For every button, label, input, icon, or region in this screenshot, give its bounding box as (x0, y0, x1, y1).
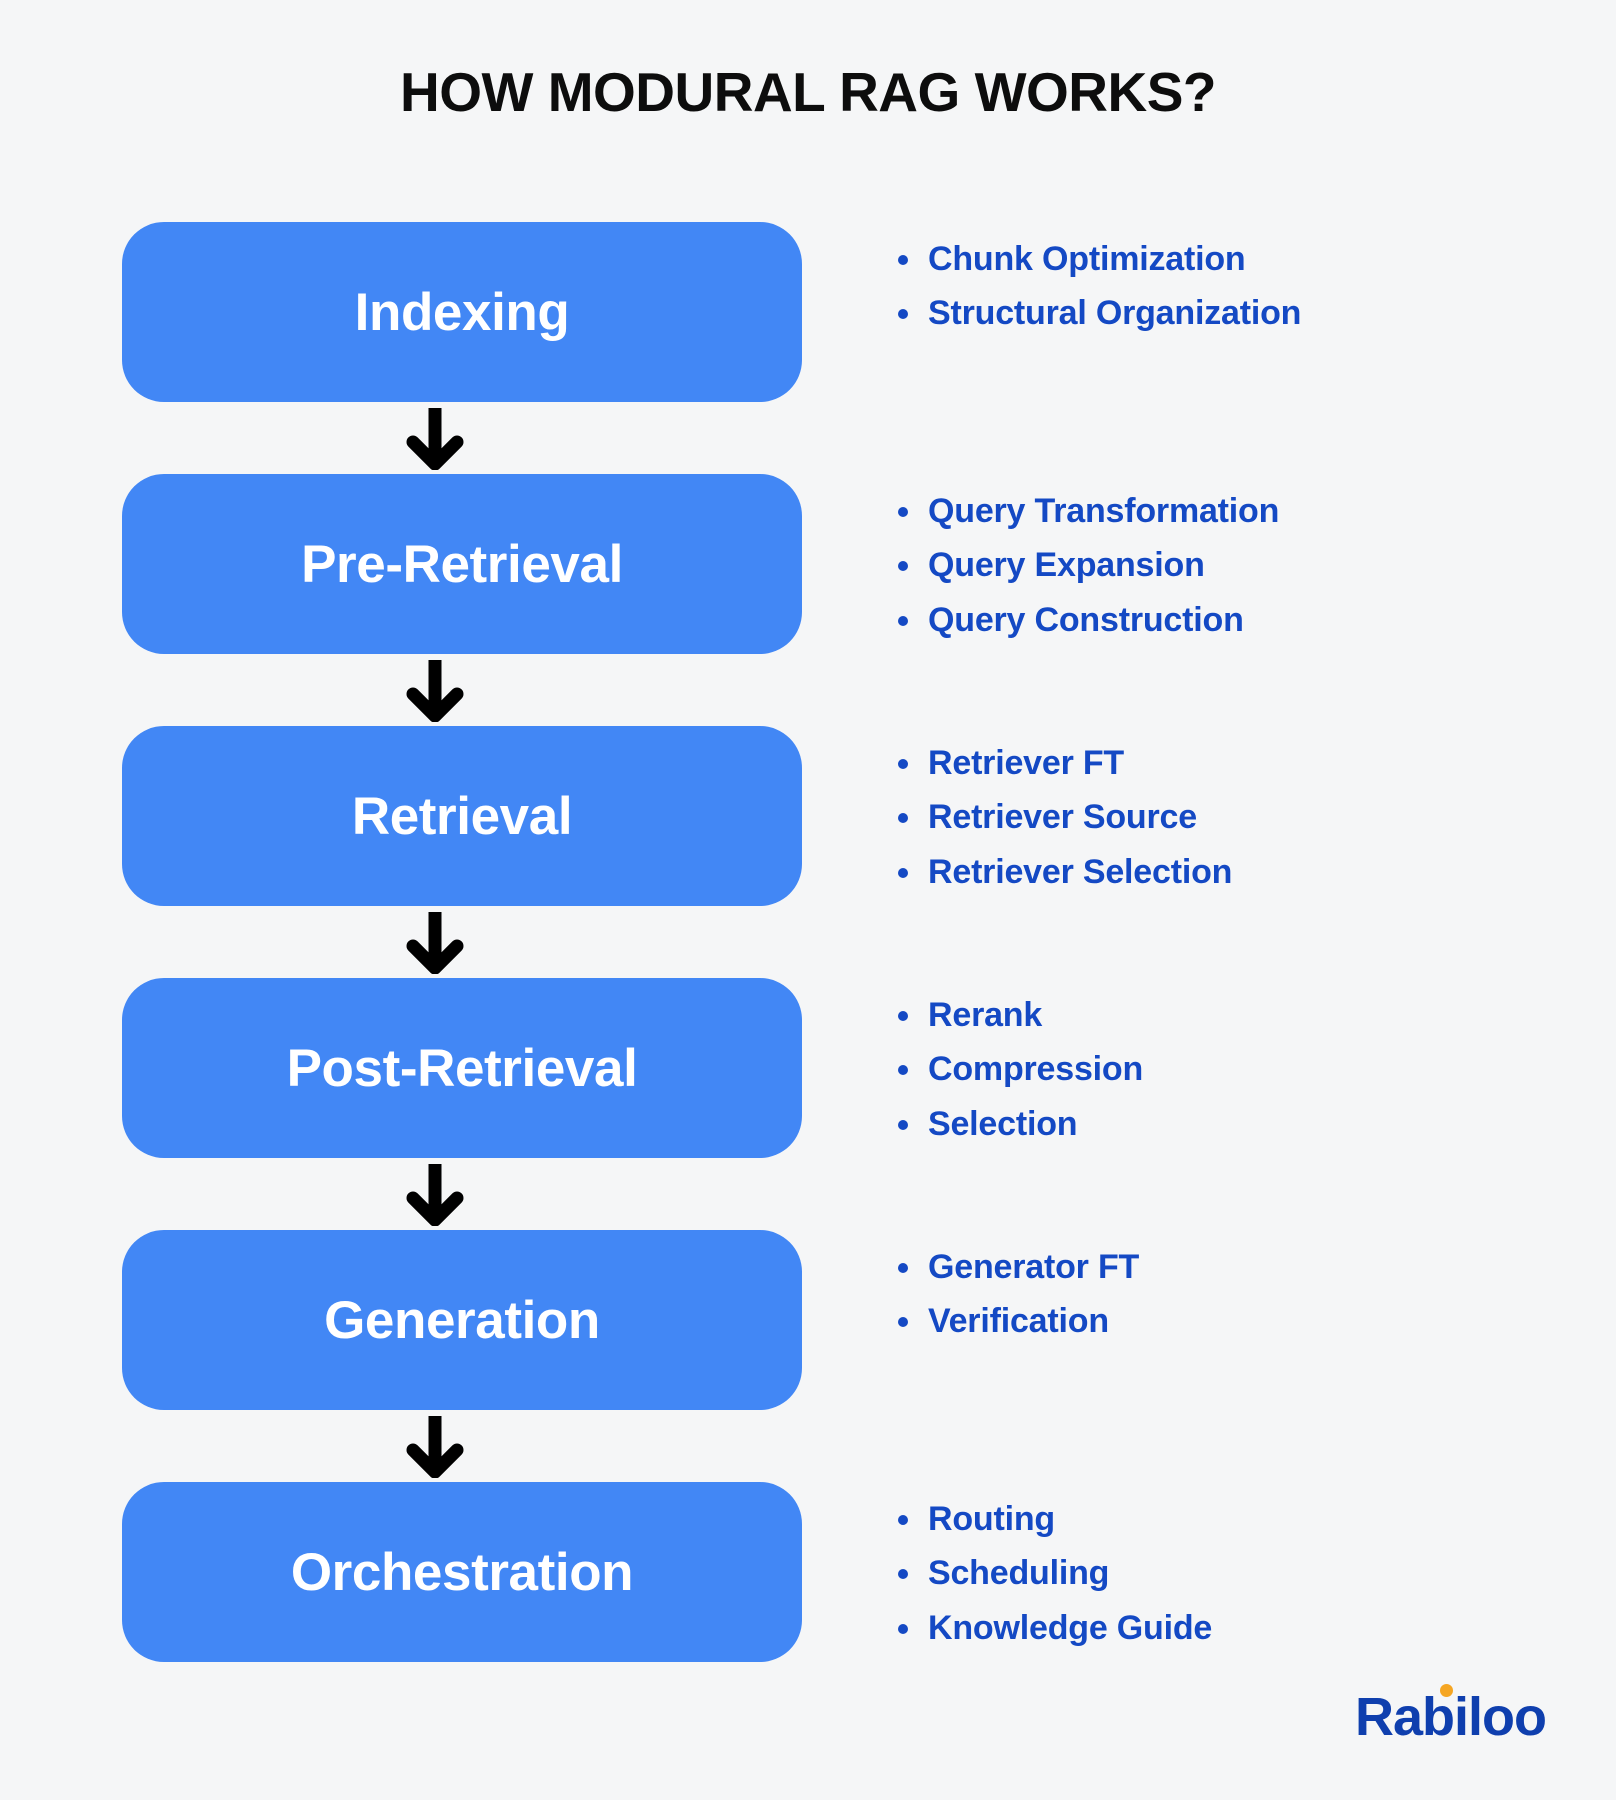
arrow-connector-3 (0, 906, 800, 978)
bullets-column: Retriever FT Retriever Source Retriever … (800, 726, 1616, 899)
bullets-column: Rerank Compression Selection (800, 978, 1616, 1151)
bullets-column: Query Transformation Query Expansion Que… (800, 474, 1616, 647)
stage-box-pre-retrieval[interactable]: Pre-Retrieval (122, 474, 802, 654)
list-item: Query Construction (892, 593, 1616, 647)
bullet-list-generation: Generator FT Verification (892, 1240, 1616, 1349)
stage-row: Post-Retrieval Rerank Compression Select… (0, 978, 1616, 1158)
arrow-down-icon (403, 1162, 467, 1226)
bullets-column: Generator FT Verification (800, 1230, 1616, 1349)
stage-column: Post-Retrieval (0, 978, 800, 1158)
list-item: Verification (892, 1294, 1616, 1348)
stage-row: Indexing Chunk Optimization Structural O… (0, 222, 1616, 402)
arrow-connector-5 (0, 1410, 800, 1482)
list-item: Structural Organization (892, 286, 1616, 340)
stage-column: Pre-Retrieval (0, 474, 800, 654)
arrow-down-icon (403, 658, 467, 722)
bullet-list-indexing: Chunk Optimization Structural Organizati… (892, 232, 1616, 341)
stage-label: Orchestration (291, 1546, 633, 1599)
bullet-list-pre-retrieval: Query Transformation Query Expansion Que… (892, 484, 1616, 647)
list-item: Generator FT (892, 1240, 1616, 1294)
list-item: Retriever FT (892, 736, 1616, 790)
stage-label: Retrieval (352, 790, 572, 843)
list-item: Retriever Selection (892, 845, 1616, 899)
list-item: Query Expansion (892, 538, 1616, 592)
stage-column: Retrieval (0, 726, 800, 906)
stage-row: Orchestration Routing Scheduling Knowled… (0, 1482, 1616, 1662)
list-item: Scheduling (892, 1546, 1616, 1600)
arrow-connector-4 (0, 1158, 800, 1230)
list-item: Chunk Optimization (892, 232, 1616, 286)
arrow-connector-1 (0, 402, 800, 474)
infographic-page: HOW MODURAL RAG WORKS? Indexing Chunk Op… (0, 0, 1616, 1800)
stage-box-generation[interactable]: Generation (122, 1230, 802, 1410)
stage-label: Generation (324, 1294, 600, 1347)
stage-row: Retrieval Retriever FT Retriever Source … (0, 726, 1616, 906)
stage-box-orchestration[interactable]: Orchestration (122, 1482, 802, 1662)
bullet-list-retrieval: Retriever FT Retriever Source Retriever … (892, 736, 1616, 899)
logo-accent-dot (1440, 1684, 1453, 1697)
list-item: Routing (892, 1492, 1616, 1546)
bullet-list-orchestration: Routing Scheduling Knowledge Guide (892, 1492, 1616, 1655)
list-item: Selection (892, 1097, 1616, 1151)
list-item: Knowledge Guide (892, 1601, 1616, 1655)
bullet-list-post-retrieval: Rerank Compression Selection (892, 988, 1616, 1151)
page-title: HOW MODURAL RAG WORKS? (0, 60, 1616, 124)
bullets-column: Routing Scheduling Knowledge Guide (800, 1482, 1616, 1655)
stage-row: Generation Generator FT Verification (0, 1230, 1616, 1410)
list-item: Query Transformation (892, 484, 1616, 538)
stage-column: Orchestration (0, 1482, 800, 1662)
list-item: Compression (892, 1042, 1616, 1096)
list-item: Rerank (892, 988, 1616, 1042)
arrow-down-icon (403, 910, 467, 974)
stage-box-indexing[interactable]: Indexing (122, 222, 802, 402)
arrow-down-icon (403, 1414, 467, 1478)
stage-label: Indexing (355, 286, 570, 339)
stage-column: Generation (0, 1230, 800, 1410)
stage-row: Pre-Retrieval Query Transformation Query… (0, 474, 1616, 654)
list-item: Retriever Source (892, 790, 1616, 844)
arrow-down-icon (403, 406, 467, 470)
stage-label: Post-Retrieval (287, 1042, 638, 1095)
arrow-connector-2 (0, 654, 800, 726)
flow-diagram: Indexing Chunk Optimization Structural O… (0, 222, 1616, 1662)
bullets-column: Chunk Optimization Structural Organizati… (800, 222, 1616, 341)
stage-box-retrieval[interactable]: Retrieval (122, 726, 802, 906)
stage-box-post-retrieval[interactable]: Post-Retrieval (122, 978, 802, 1158)
stage-column: Indexing (0, 222, 800, 402)
stage-label: Pre-Retrieval (301, 538, 623, 591)
rabiloo-logo: Rabiloo (1355, 1686, 1546, 1748)
